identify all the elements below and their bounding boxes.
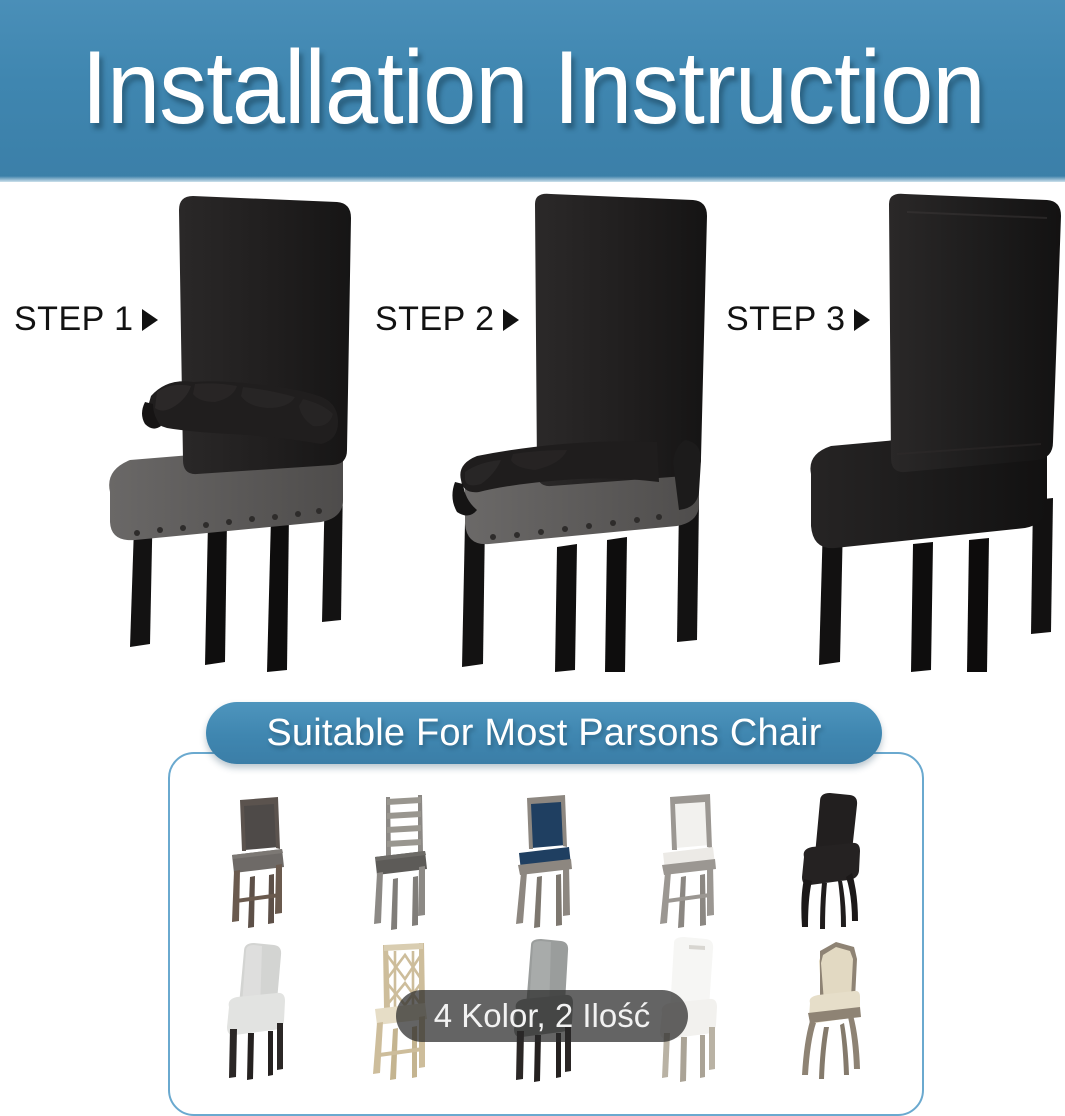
page-title-text: Installation Instruction (81, 29, 984, 148)
variant-tooltip-text: 4 Kolor, 2 Ilość (434, 997, 650, 1035)
suitable-banner: Suitable For Most Parsons Chair (206, 702, 882, 764)
variant-tooltip: 4 Kolor, 2 Ilość (396, 990, 688, 1042)
gallery-chair-10[interactable] (760, 932, 904, 1082)
product-infographic: Installation Instruction STEP 1 STEP 2 S… (0, 0, 1065, 1080)
suitable-banner-text: Suitable For Most Parsons Chair (266, 712, 821, 755)
gallery-chair-2[interactable] (330, 782, 474, 932)
gallery-chair-6[interactable] (186, 932, 330, 1082)
gallery-chair-1[interactable] (186, 782, 330, 932)
demo-chair-step-2 (435, 192, 735, 672)
demo-chair-step-3 (785, 192, 1065, 672)
steps-section: STEP 1 STEP 2 STEP 3 (0, 182, 1065, 682)
header-banner: Installation Instruction (0, 0, 1065, 182)
gallery-chair-3[interactable] (473, 782, 617, 932)
demo-chair-step-1 (75, 192, 375, 672)
gallery-chair-4[interactable] (617, 782, 761, 932)
gallery-chair-5[interactable] (760, 782, 904, 932)
page-title: Installation Instruction (42, 29, 1024, 148)
